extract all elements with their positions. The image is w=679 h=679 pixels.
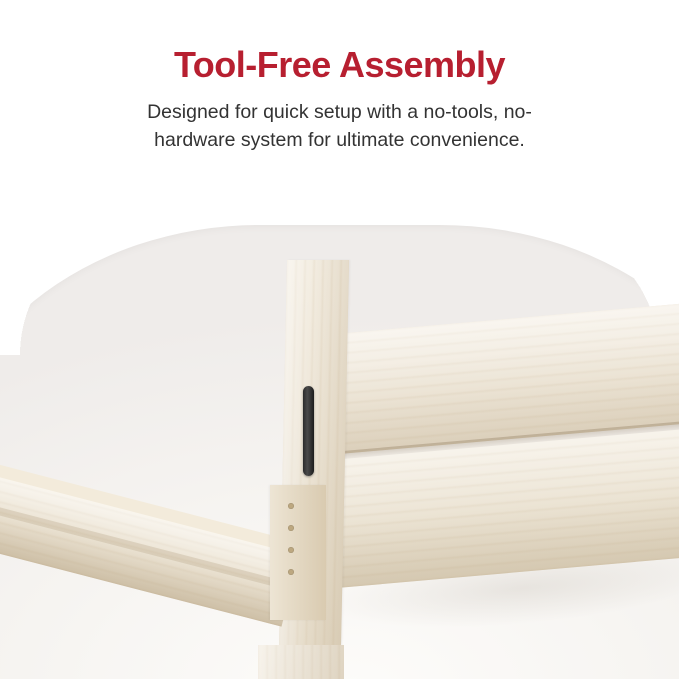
locking-peg-icon: [303, 386, 314, 476]
text-block: Tool-Free Assembly Designed for quick se…: [0, 44, 679, 155]
product-photo: [0, 225, 679, 679]
page-subtitle: Designed for quick setup with a no-tools…: [140, 99, 540, 154]
post-lower-leg-shading: [258, 645, 344, 679]
bracket-pin: [288, 525, 294, 531]
backdrop-corner-left: [0, 225, 150, 355]
bracket-pin: [288, 569, 294, 575]
promo-image: Tool-Free Assembly Designed for quick se…: [0, 0, 679, 679]
page-title: Tool-Free Assembly: [0, 44, 679, 85]
bracket-pin: [288, 547, 294, 553]
connector-bracket: [270, 485, 326, 620]
bracket-pin: [288, 503, 294, 509]
